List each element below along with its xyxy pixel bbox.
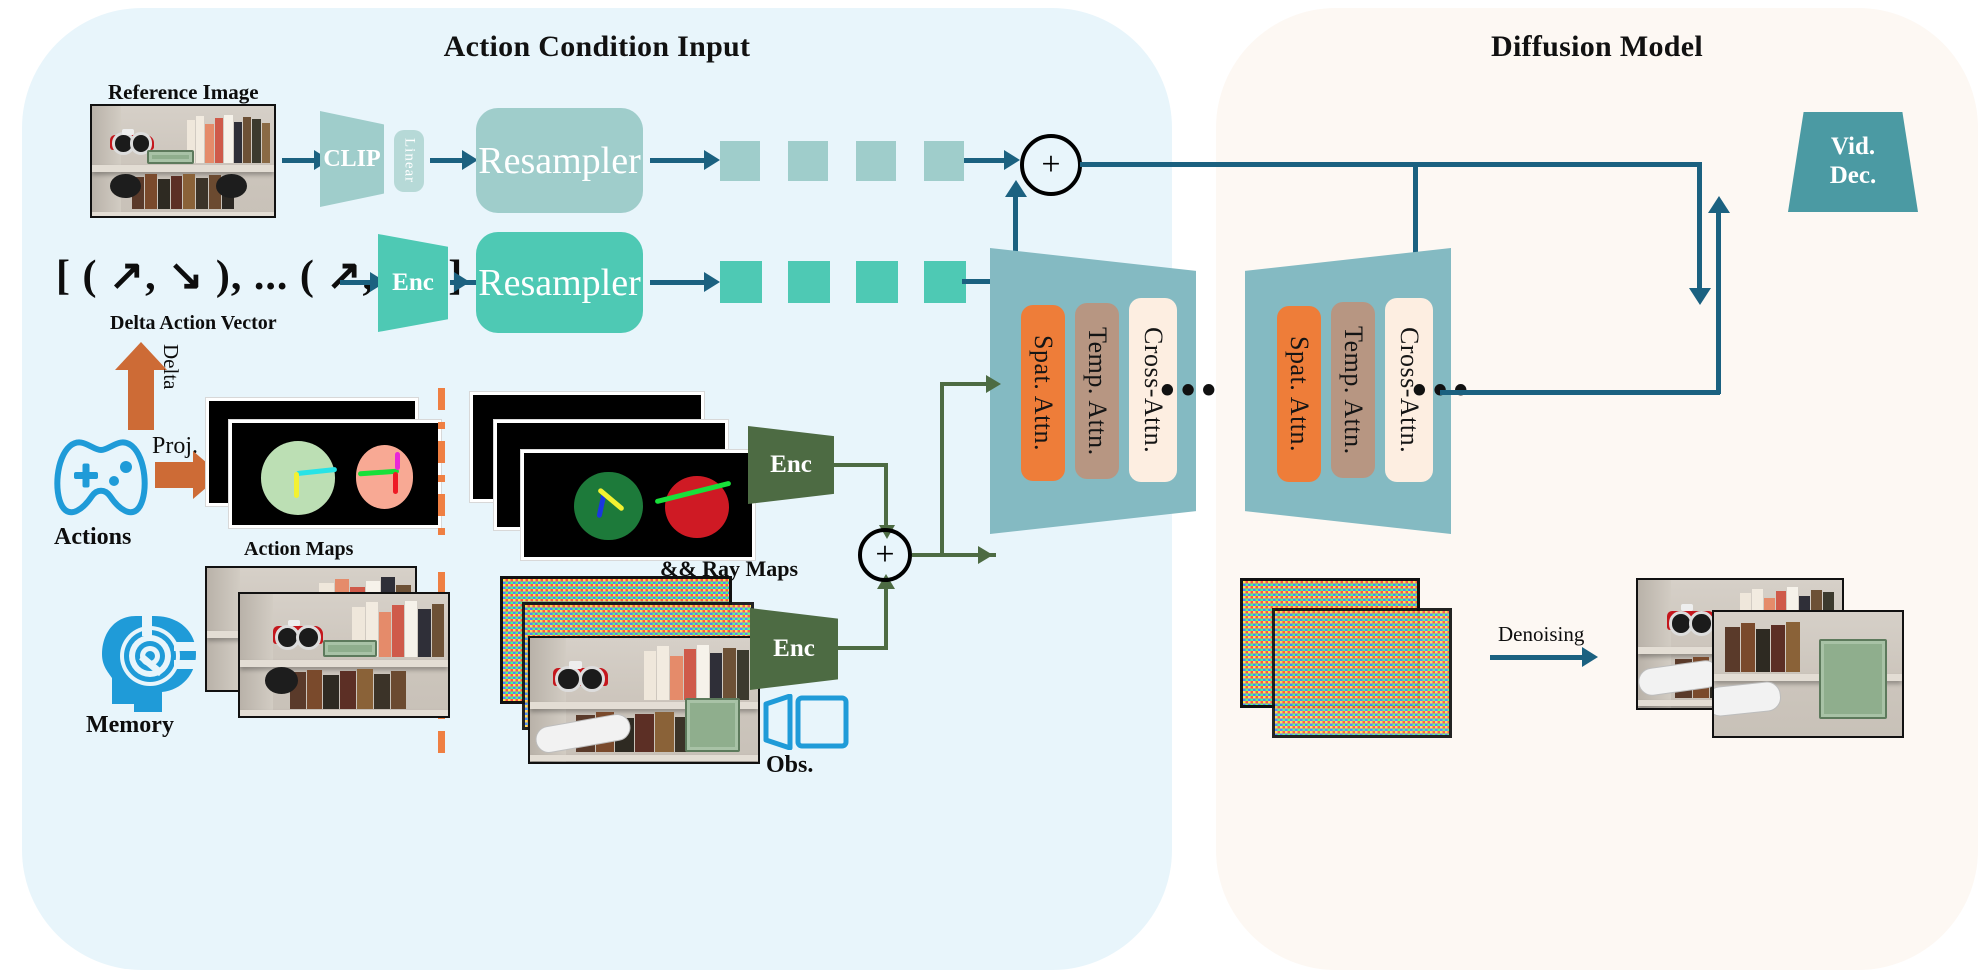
arrow-vector-to-enc-line: [340, 280, 374, 285]
vid-dec-label-line1: Vid.: [1831, 133, 1875, 162]
sum-node-upper-symbol: +: [1041, 148, 1060, 182]
ray-encoder-block: Enc: [748, 426, 834, 504]
unet2-spat-attn-label: Spat. Attn.: [1284, 336, 1314, 452]
action-token-elbow-head: [1005, 180, 1027, 197]
image-token-2: [788, 141, 828, 181]
obs-photo-front: [528, 636, 760, 764]
delta-arrow-label: Delta: [158, 344, 183, 389]
obs-encoder-block: Enc: [750, 608, 838, 690]
unet2-spat-attn: Spat. Attn.: [1277, 306, 1321, 482]
memory-photo-front: [238, 592, 450, 718]
arrow-resampler-to-tokens-line: [650, 158, 708, 163]
memory-label: Memory: [86, 712, 174, 739]
diagram-canvas: Action Condition Input Reference Image: [0, 0, 1988, 980]
left-panel-title: Action Condition Input: [22, 30, 1172, 64]
resampler-image-label: Resampler: [478, 139, 641, 183]
delta-action-vector-label: Delta Action Vector: [110, 312, 277, 335]
denoise-output-photo-front: [1712, 610, 1904, 738]
reference-image-label: Reference Image: [108, 80, 259, 105]
resampler-action-block: Resampler: [476, 232, 643, 333]
action-enc-label: Enc: [392, 269, 434, 297]
delta-arrow-icon: [128, 368, 154, 430]
unet1-feed-head: [986, 375, 1001, 393]
conditioning-drop-right: [1697, 162, 1702, 298]
linear-block: Linear: [394, 130, 424, 192]
ray-enc-elbow-horizontal: [834, 463, 888, 467]
action-token-3: [856, 261, 898, 303]
proj-arrow-icon: [155, 462, 195, 488]
unet1-feed-vertical: [940, 382, 944, 554]
ray-map-circle-left: [574, 472, 642, 541]
arrow-resampler-action-line: [650, 280, 708, 285]
image-token-4: [924, 141, 964, 181]
action-map-stick-yellow: [294, 472, 299, 499]
action-map-frame-mid: [229, 420, 441, 528]
action-token-2: [788, 261, 830, 303]
proj-label: Proj.: [152, 433, 198, 460]
unet1-spat-attn: Spat. Attn.: [1021, 305, 1065, 481]
action-map-stick-magenta: [395, 452, 400, 470]
action-token-4: [924, 261, 966, 303]
unet2-output-head: [1708, 196, 1730, 213]
denoise-input-noise-front: [1272, 608, 1452, 738]
arrow-ref-to-clip-line: [282, 158, 316, 163]
unet1-feed-horizontal: [940, 382, 992, 386]
arrow-into-unet1-head: [978, 546, 993, 564]
unet2-temp-attn-label: Temp. Attn.: [1338, 326, 1368, 455]
unet2-output-vertical: [1716, 212, 1721, 394]
unet2-output-horizontal: [1440, 390, 1720, 395]
unet1-ellipsis: •••: [1160, 370, 1222, 412]
sum-node-upper: +: [1020, 134, 1082, 196]
action-map-circle-right: [356, 445, 414, 508]
ray-enc-elbow-vertical: [884, 463, 888, 531]
gamepad-icon: [48, 434, 154, 520]
obs-enc-elbow-vertical: [884, 588, 888, 648]
arrow-resampler-action-head: [704, 272, 720, 292]
camera-obs-icon: [760, 694, 850, 750]
resampler-action-label: Resampler: [478, 261, 641, 305]
vid-dec-label-line2: Dec.: [1830, 162, 1877, 191]
arrow-linear-to-resampler-line: [430, 158, 464, 163]
linear-label: Linear: [401, 138, 418, 183]
arrow-tokens-to-sum-head: [1004, 150, 1020, 170]
brain-memory-icon: [96, 608, 208, 720]
unet1-temp-attn-label: Temp. Attn.: [1082, 327, 1112, 456]
image-token-1: [720, 141, 760, 181]
unet1-temp-attn: Temp. Attn.: [1075, 303, 1119, 479]
clip-encoder-block: CLIP: [320, 111, 384, 207]
resampler-image-block: Resampler: [476, 108, 643, 213]
clip-label: CLIP: [323, 146, 380, 173]
denoising-label: Denoising: [1498, 622, 1584, 647]
action-maps-label: Action Maps: [244, 538, 353, 561]
obs-enc-label: Enc: [773, 635, 815, 663]
arrow-tokens-to-sum-line: [964, 158, 1008, 163]
reference-image-photo: [90, 104, 276, 218]
unet1-spat-attn-label: Spat. Attn.: [1028, 335, 1058, 451]
obs-enc-elbow-horizontal: [838, 646, 888, 650]
right-panel-title: Diffusion Model: [1216, 30, 1978, 64]
image-token-3: [856, 141, 896, 181]
obs-label: Obs.: [766, 752, 813, 779]
unet2-temp-attn: Temp. Attn.: [1331, 302, 1375, 478]
ray-map-frame-front: [521, 450, 755, 560]
action-encoder-block: Enc: [378, 234, 448, 332]
separator-upper: [438, 388, 445, 558]
arrow-resampler-to-tokens-head: [704, 150, 720, 170]
arrow-enc-to-resampler-head: [454, 272, 470, 292]
video-decoder-block: Vid. Dec.: [1788, 112, 1918, 212]
sum-node-lower-symbol: +: [875, 538, 894, 572]
denoising-arrow-line: [1490, 655, 1586, 660]
action-token-1: [720, 261, 762, 303]
denoising-arrow-head: [1582, 647, 1598, 667]
sum-node-lower: +: [858, 528, 912, 582]
conditioning-drop-right-head: [1689, 288, 1711, 305]
actions-label: Actions: [54, 524, 131, 551]
conditioning-bus-horizontal: [1080, 162, 1702, 167]
ray-enc-label: Enc: [770, 451, 812, 479]
action-map-stick-red: [393, 472, 398, 494]
